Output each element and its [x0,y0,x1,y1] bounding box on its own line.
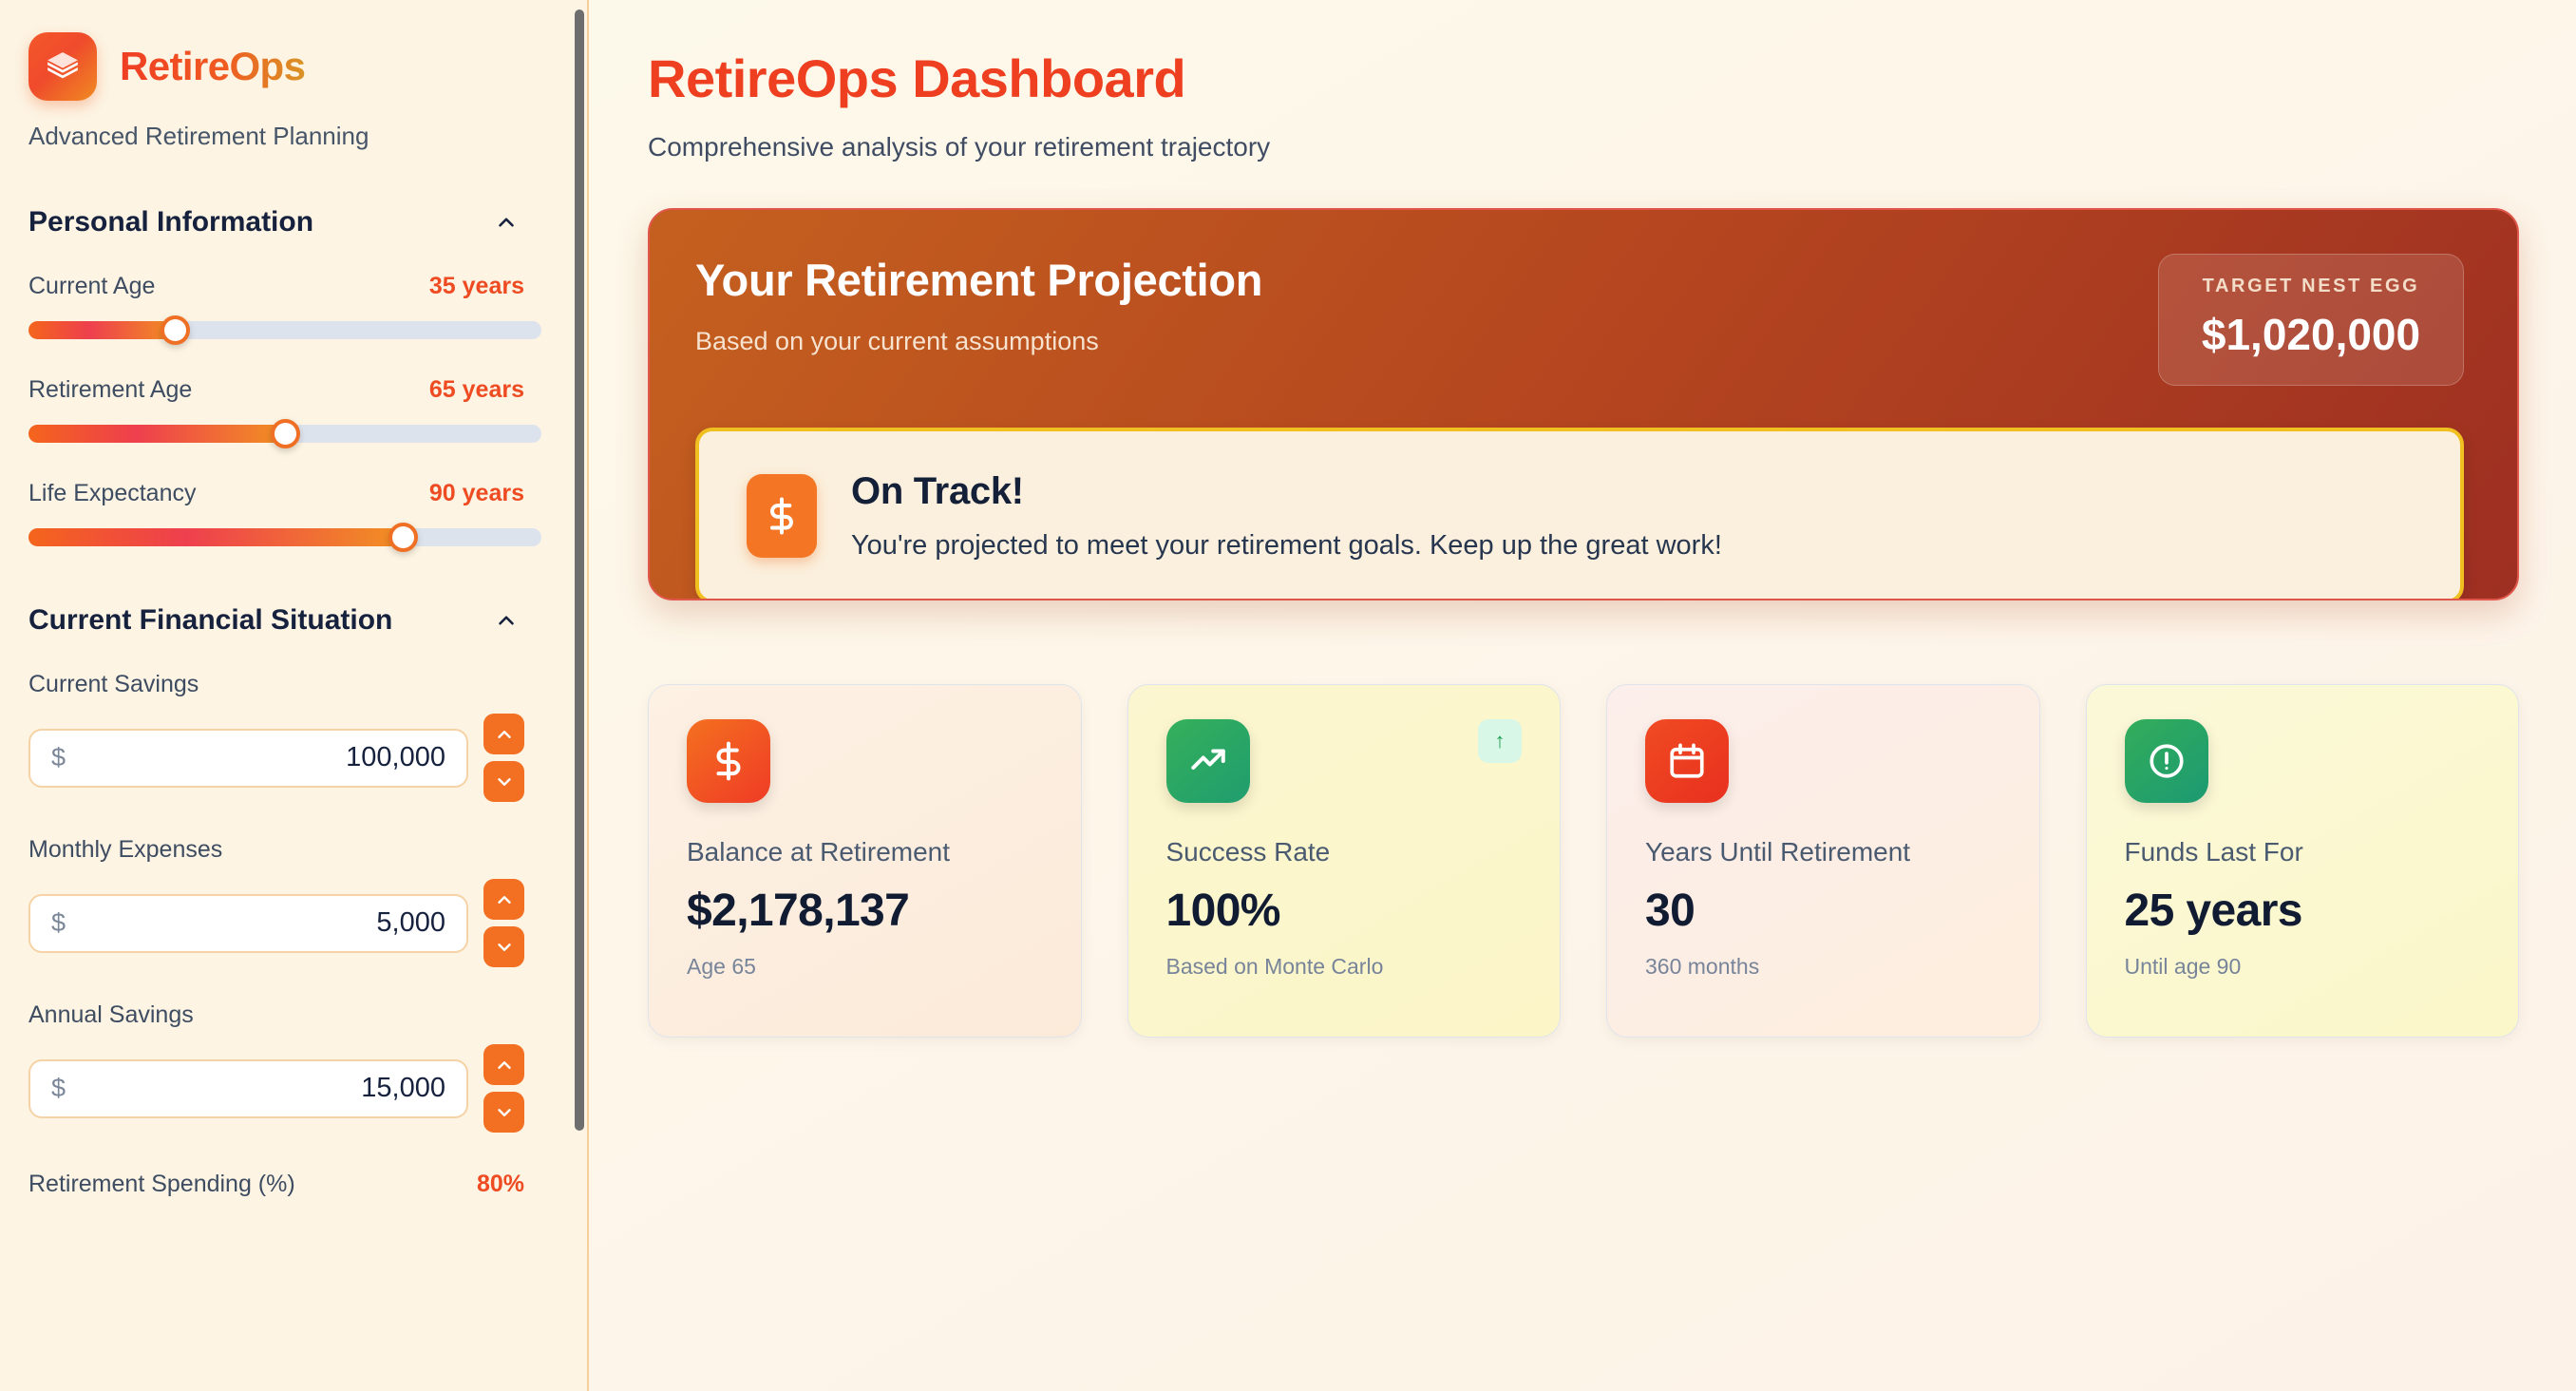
slider-field-life-expectancy: Life Expectancy 90 years [28,480,524,549]
field-value: 80% [477,1171,524,1198]
number-field-monthly-expenses: Monthly Expenses $ 5,000 [28,836,524,967]
slider-thumb[interactable] [388,523,418,552]
trend-up-badge: ↑ [1478,719,1522,763]
stat-note: Until age 90 [2125,954,2481,980]
slider-value: 35 years [429,273,524,300]
sidebar: RetireOps Advanced Retirement Planning P… [0,0,589,1391]
slider-value: 65 years [429,376,524,404]
slider-field-retirement-age: Retirement Age 65 years [28,376,524,446]
slider-label: Retirement Age [28,376,192,404]
slider-value: 90 years [429,480,524,507]
slider-fill [28,425,285,443]
increment-button[interactable] [483,1044,524,1085]
nest-egg-label: TARGET NEST EGG [2169,276,2453,297]
section-header-personal-information[interactable]: Personal Information [28,206,524,238]
brand-tagline: Advanced Retirement Planning [28,122,524,151]
stat-card-funds-last-for: Funds Last For 25 years Until age 90 [2086,684,2520,1038]
field-label: Retirement Spending (%) [28,1171,295,1198]
stat-label: Balance at Retirement [687,837,1043,867]
annual-savings-input[interactable]: $ 15,000 [28,1059,468,1118]
monthly-expenses-input[interactable]: $ 5,000 [28,894,468,953]
input-value: 15,000 [66,1073,445,1104]
field-label: Monthly Expenses [28,836,524,864]
hero-subtitle: Based on your current assumptions [695,327,1262,356]
chevron-up-icon[interactable] [494,608,519,633]
current-savings-input[interactable]: $ 100,000 [28,729,468,788]
slider-thumb[interactable] [161,315,190,345]
stat-cards: Balance at Retirement $2,178,137 Age 65 … [648,684,2519,1038]
decrement-button[interactable] [483,761,524,802]
stat-note: Age 65 [687,954,1043,980]
alert-title: On Track! [851,470,1722,513]
stat-note: Based on Monte Carlo [1166,954,1523,980]
slider-fill [28,528,403,546]
brand: RetireOps [28,32,524,101]
hero-title: Your Retirement Projection [695,254,1262,306]
page-subtitle: Comprehensive analysis of your retiremen… [648,132,2519,162]
layers-icon [28,32,97,101]
brand-name: RetireOps [120,44,305,89]
stat-value: 30 [1645,885,2001,937]
stat-label: Success Rate [1166,837,1523,867]
app-root: RetireOps Advanced Retirement Planning P… [0,0,2576,1391]
calendar-icon [1645,719,1729,803]
stat-note: 360 months [1645,954,2001,980]
stat-label: Years Until Retirement [1645,837,2001,867]
retirement-projection-card: Your Retirement Projection Based on your… [648,208,2519,600]
currency-prefix: $ [51,908,66,938]
stat-value: 100% [1166,885,1523,937]
currency-prefix: $ [51,743,66,772]
number-field-annual-savings: Annual Savings $ 15,000 [28,1001,524,1133]
stat-card-years-until-retirement: Years Until Retirement 30 360 months [1606,684,2040,1038]
alert-message: You're projected to meet your retirement… [851,530,1722,562]
slider-fill [28,321,175,339]
alert-circle-icon [2125,719,2208,803]
section-title: Personal Information [28,206,313,238]
dollar-icon [687,719,770,803]
stat-label: Funds Last For [2125,837,2481,867]
target-nest-egg-badge: TARGET NEST EGG $1,020,000 [2158,254,2464,386]
life-expectancy-slider[interactable] [28,523,524,549]
increment-button[interactable] [483,879,524,920]
slider-label: Life Expectancy [28,480,197,507]
decrement-button[interactable] [483,1092,524,1133]
stat-value: $2,178,137 [687,885,1043,937]
field-label: Annual Savings [28,1001,524,1029]
chevron-up-icon[interactable] [494,210,519,235]
number-field-current-savings: Current Savings $ 100,000 [28,671,524,802]
trending-up-icon [1166,719,1250,803]
stat-card-success-rate: ↑ Success Rate 100% Based on Monte Carlo [1127,684,1562,1038]
dollar-icon [747,474,817,558]
on-track-alert: On Track! You're projected to meet your … [695,428,2464,600]
decrement-button[interactable] [483,926,524,967]
number-field-retirement-spending: Retirement Spending (%) 80% [28,1171,524,1198]
field-label: Current Savings [28,671,524,698]
page-title: RetireOps Dashboard [648,48,2519,109]
main-content: RetireOps Dashboard Comprehensive analys… [589,0,2576,1391]
increment-button[interactable] [483,714,524,754]
current-age-slider[interactable] [28,315,524,342]
slider-field-current-age: Current Age 35 years [28,273,524,342]
arrow-up-icon: ↑ [1495,731,1506,752]
input-value: 100,000 [66,742,445,773]
slider-label: Current Age [28,273,155,300]
section-title: Current Financial Situation [28,604,392,637]
input-value: 5,000 [66,907,445,939]
slider-thumb[interactable] [271,419,300,448]
currency-prefix: $ [51,1074,66,1103]
sidebar-scrollbar[interactable] [575,10,584,1131]
nest-egg-value: $1,020,000 [2169,309,2453,360]
section-header-current-financial-situation[interactable]: Current Financial Situation [28,604,524,637]
stat-value: 25 years [2125,885,2481,937]
stat-card-balance-at-retirement: Balance at Retirement $2,178,137 Age 65 [648,684,1082,1038]
retirement-age-slider[interactable] [28,419,524,446]
